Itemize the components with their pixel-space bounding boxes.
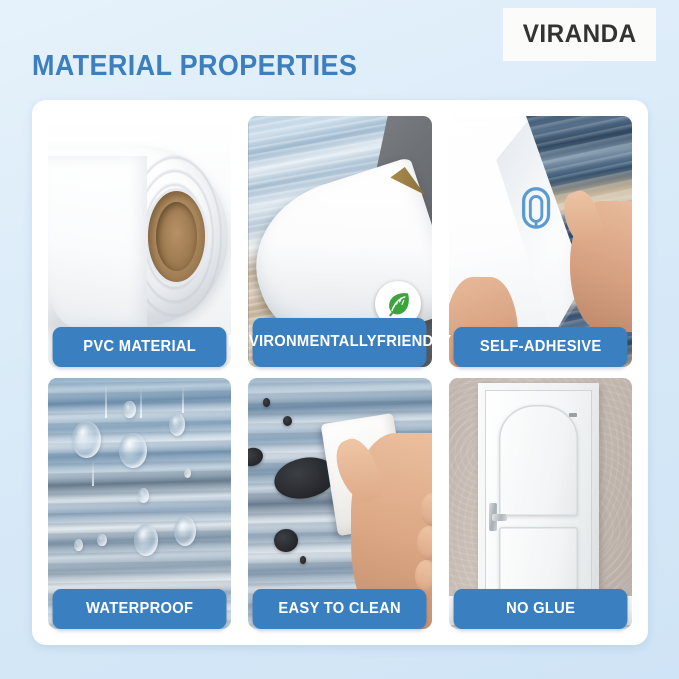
- feature-tile-self-adhesive[interactable]: SELF-ADHESIVE: [449, 116, 632, 367]
- feature-tile-waterproof[interactable]: WATERPROOF: [48, 378, 231, 629]
- wp-trail-4: [92, 461, 94, 486]
- tile-label-waterproof: WATERPROOF: [53, 589, 227, 629]
- wp-droplet-8: [97, 534, 106, 547]
- ng-door-frame: [478, 383, 599, 604]
- tile-label-environmentally-friendly: ENVIRONMENTALLYFRIENDLY: [253, 318, 427, 367]
- wp-droplet-4: [123, 401, 136, 419]
- ng-door-latch: [569, 413, 576, 416]
- ec-knuckle-1: [421, 493, 432, 525]
- ng-door: [485, 390, 591, 604]
- tile-label-pvc-material: PVC MATERIAL: [53, 327, 227, 367]
- wp-droplet-3: [169, 413, 185, 436]
- ng-door-panel-top: [499, 405, 578, 516]
- feature-tile-easy-to-clean[interactable]: EASY TO CLEAN: [248, 378, 431, 629]
- wp-droplet-5: [134, 524, 158, 557]
- wp-droplet-7: [74, 539, 83, 552]
- ng-door-handle-lever: [492, 514, 507, 521]
- brand-logo-box: VIRANDA: [503, 8, 656, 61]
- paperclip-icon: [515, 184, 561, 230]
- feature-tile-no-glue[interactable]: NO GLUE: [449, 378, 632, 629]
- brand-name: VIRANDA: [523, 20, 637, 49]
- feature-tile-pvc-material[interactable]: PVC MATERIAL: [48, 116, 231, 367]
- tile-label-easy-to-clean: EASY TO CLEAN: [253, 589, 427, 629]
- ec-stain-small-2: [283, 416, 292, 426]
- wp-trail-1: [105, 383, 107, 418]
- ec-stain-dot: [300, 556, 306, 564]
- label-line-2: FRIENDLY: [377, 334, 452, 351]
- tile-label-no-glue: NO GLUE: [453, 589, 627, 629]
- tile-label-self-adhesive: SELF-ADHESIVE: [453, 327, 627, 367]
- ng-door-panel-bottom: [499, 527, 578, 591]
- wp-trail-2: [140, 388, 142, 418]
- ec-knuckle-3: [415, 560, 432, 592]
- feature-card: PVC MATERIAL: [32, 100, 648, 645]
- page-title: MATERIAL PROPERTIES: [32, 50, 357, 83]
- label-line-1: ENVIRONMENTALLY: [228, 334, 377, 351]
- pvc-core-hole: [156, 202, 197, 271]
- feature-tile-environmentally-friendly[interactable]: ENVIRONMENTALLYFRIENDLY: [248, 116, 431, 367]
- pvc-unrolled-sheet: [48, 156, 147, 327]
- wp-trail-3: [182, 386, 184, 414]
- pvc-cardboard-core: [148, 191, 205, 281]
- feature-grid: PVC MATERIAL: [48, 116, 632, 629]
- product-feature-infographic: VIRANDA MATERIAL PROPERTIES P: [0, 0, 679, 679]
- ec-knuckle-2: [417, 526, 432, 560]
